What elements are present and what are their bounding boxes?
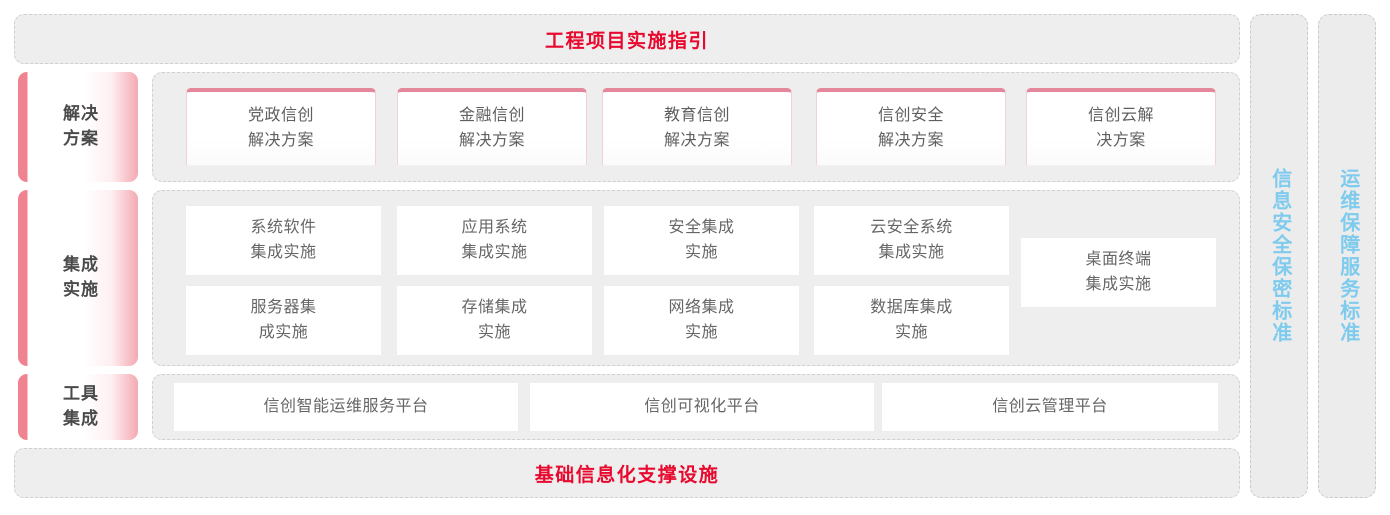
stage-label-integration-line2: 实施: [63, 278, 99, 303]
integration-box-system-software-text: 系统软件 集成实施: [250, 216, 316, 266]
solution-card-4[interactable]: 信创安全 解决方案: [816, 88, 1006, 166]
integration-box-desktop-terminal[interactable]: 桌面终端 集成实施: [1021, 238, 1216, 307]
solution-card-3-line1: 教育信创: [664, 104, 730, 129]
tool-box-intelligent-ops-platform-text: 信创智能运维服务平台: [263, 395, 428, 420]
solution-card-4-text: 信创安全 解决方案: [878, 104, 944, 154]
solution-card-4-line1: 信创安全: [878, 104, 944, 129]
integration-box-network-text: 网络集成 实施: [668, 296, 734, 346]
header-banner: 工程项目实施指引: [14, 14, 1240, 64]
tool-box-intelligent-ops-platform[interactable]: 信创智能运维服务平台: [174, 383, 518, 431]
architecture-diagram: 工程项目实施指引 解决 方案 党政信创 解决方案 金融信创 解决方案 教育信创 …: [0, 0, 1390, 515]
solution-card-1[interactable]: 党政信创 解决方案: [186, 88, 376, 166]
integration-box-security-text: 安全集成 实施: [668, 216, 734, 266]
solution-card-5-line2: 决方案: [1088, 129, 1154, 154]
integration-box-cloud-security-text: 云安全系统 集成实施: [870, 216, 953, 266]
integration-box-network-line1: 网络集成: [668, 296, 734, 321]
integration-box-server-text: 服务器集 成实施: [250, 296, 316, 346]
tool-box-cloud-management-platform-text: 信创云管理平台: [992, 395, 1108, 420]
stage-label-solutions-line1: 解决: [63, 102, 99, 127]
solution-card-4-line2: 解决方案: [878, 129, 944, 154]
integration-box-desktop-terminal-text: 桌面终端 集成实施: [1085, 248, 1151, 298]
integration-box-application-system-line1: 应用系统: [461, 216, 527, 241]
solution-card-1-text: 党政信创 解决方案: [248, 104, 314, 154]
integration-box-server[interactable]: 服务器集 成实施: [186, 286, 381, 355]
integration-box-system-software[interactable]: 系统软件 集成实施: [186, 206, 381, 275]
solution-card-5[interactable]: 信创云解 决方案: [1026, 88, 1216, 166]
solution-card-5-line1: 信创云解: [1088, 104, 1154, 129]
integration-box-desktop-terminal-line2: 集成实施: [1085, 273, 1151, 298]
solution-card-3-text: 教育信创 解决方案: [664, 104, 730, 154]
integration-box-database[interactable]: 数据库集成 实施: [814, 286, 1009, 355]
stage-label-tools-line2: 集成: [63, 407, 99, 432]
integration-box-storage-text: 存储集成 实施: [461, 296, 527, 346]
solution-card-2-text: 金融信创 解决方案: [459, 104, 525, 154]
integration-box-desktop-terminal-line1: 桌面终端: [1085, 248, 1151, 273]
stage-label-solutions: 解决 方案: [18, 72, 138, 182]
stage-label-integration-text: 集成 实施: [57, 253, 99, 302]
stage-label-integration-line1: 集成: [63, 253, 99, 278]
footer-title: 基础信息化支撑设施: [535, 460, 720, 487]
integration-box-system-software-line1: 系统软件: [250, 216, 316, 241]
solution-card-5-text: 信创云解 决方案: [1088, 104, 1154, 154]
integration-box-security[interactable]: 安全集成 实施: [604, 206, 799, 275]
integration-box-application-system-line2: 集成实施: [461, 241, 527, 266]
integration-box-cloud-security[interactable]: 云安全系统 集成实施: [814, 206, 1009, 275]
solution-card-3[interactable]: 教育信创 解决方案: [602, 88, 792, 166]
integration-box-cloud-security-line2: 集成实施: [870, 241, 953, 266]
integration-box-database-line1: 数据库集成: [870, 296, 953, 321]
solution-card-3-line2: 解决方案: [664, 129, 730, 154]
integration-box-cloud-security-line1: 云安全系统: [870, 216, 953, 241]
integration-box-database-text: 数据库集成 实施: [870, 296, 953, 346]
integration-box-application-system-text: 应用系统 集成实施: [461, 216, 527, 266]
solution-card-2-line2: 解决方案: [459, 129, 525, 154]
stage-label-tools-line1: 工具: [63, 382, 99, 407]
solution-card-1-line2: 解决方案: [248, 129, 314, 154]
integration-box-storage-line1: 存储集成: [461, 296, 527, 321]
stage-label-integration: 集成 实施: [18, 190, 138, 366]
integration-box-security-line1: 安全集成: [668, 216, 734, 241]
integration-box-network-line2: 实施: [668, 321, 734, 346]
solution-card-2-line1: 金融信创: [459, 104, 525, 129]
integration-box-storage[interactable]: 存储集成 实施: [397, 286, 592, 355]
integration-box-system-software-line2: 集成实施: [250, 241, 316, 266]
side-column-security-standard: 信息安全保密标准: [1250, 14, 1308, 498]
tool-box-visualization-platform-text: 信创可视化平台: [644, 395, 760, 420]
solution-card-2[interactable]: 金融信创 解决方案: [397, 88, 587, 166]
solution-card-1-line1: 党政信创: [248, 104, 314, 129]
integration-box-database-line2: 实施: [870, 321, 953, 346]
stage-label-solutions-line2: 方案: [63, 127, 99, 152]
stage-label-tools-text: 工具 集成: [57, 382, 99, 431]
page-title: 工程项目实施指引: [545, 26, 709, 53]
side-column-ops-standard: 运维保障服务标准: [1318, 14, 1376, 498]
tool-box-visualization-platform[interactable]: 信创可视化平台: [530, 383, 874, 431]
integration-box-security-line2: 实施: [668, 241, 734, 266]
integration-box-server-line1: 服务器集: [250, 296, 316, 321]
footer-banner: 基础信息化支撑设施: [14, 448, 1240, 498]
side-column-security-standard-text: 信息安全保密标准: [1266, 168, 1292, 344]
stage-label-tools: 工具 集成: [18, 374, 138, 440]
tool-box-cloud-management-platform[interactable]: 信创云管理平台: [882, 383, 1218, 431]
integration-box-application-system[interactable]: 应用系统 集成实施: [397, 206, 592, 275]
integration-box-server-line2: 成实施: [250, 321, 316, 346]
side-column-ops-standard-text: 运维保障服务标准: [1334, 168, 1360, 344]
stage-label-solutions-text: 解决 方案: [57, 102, 99, 151]
integration-box-network[interactable]: 网络集成 实施: [604, 286, 799, 355]
integration-box-storage-line2: 实施: [461, 321, 527, 346]
